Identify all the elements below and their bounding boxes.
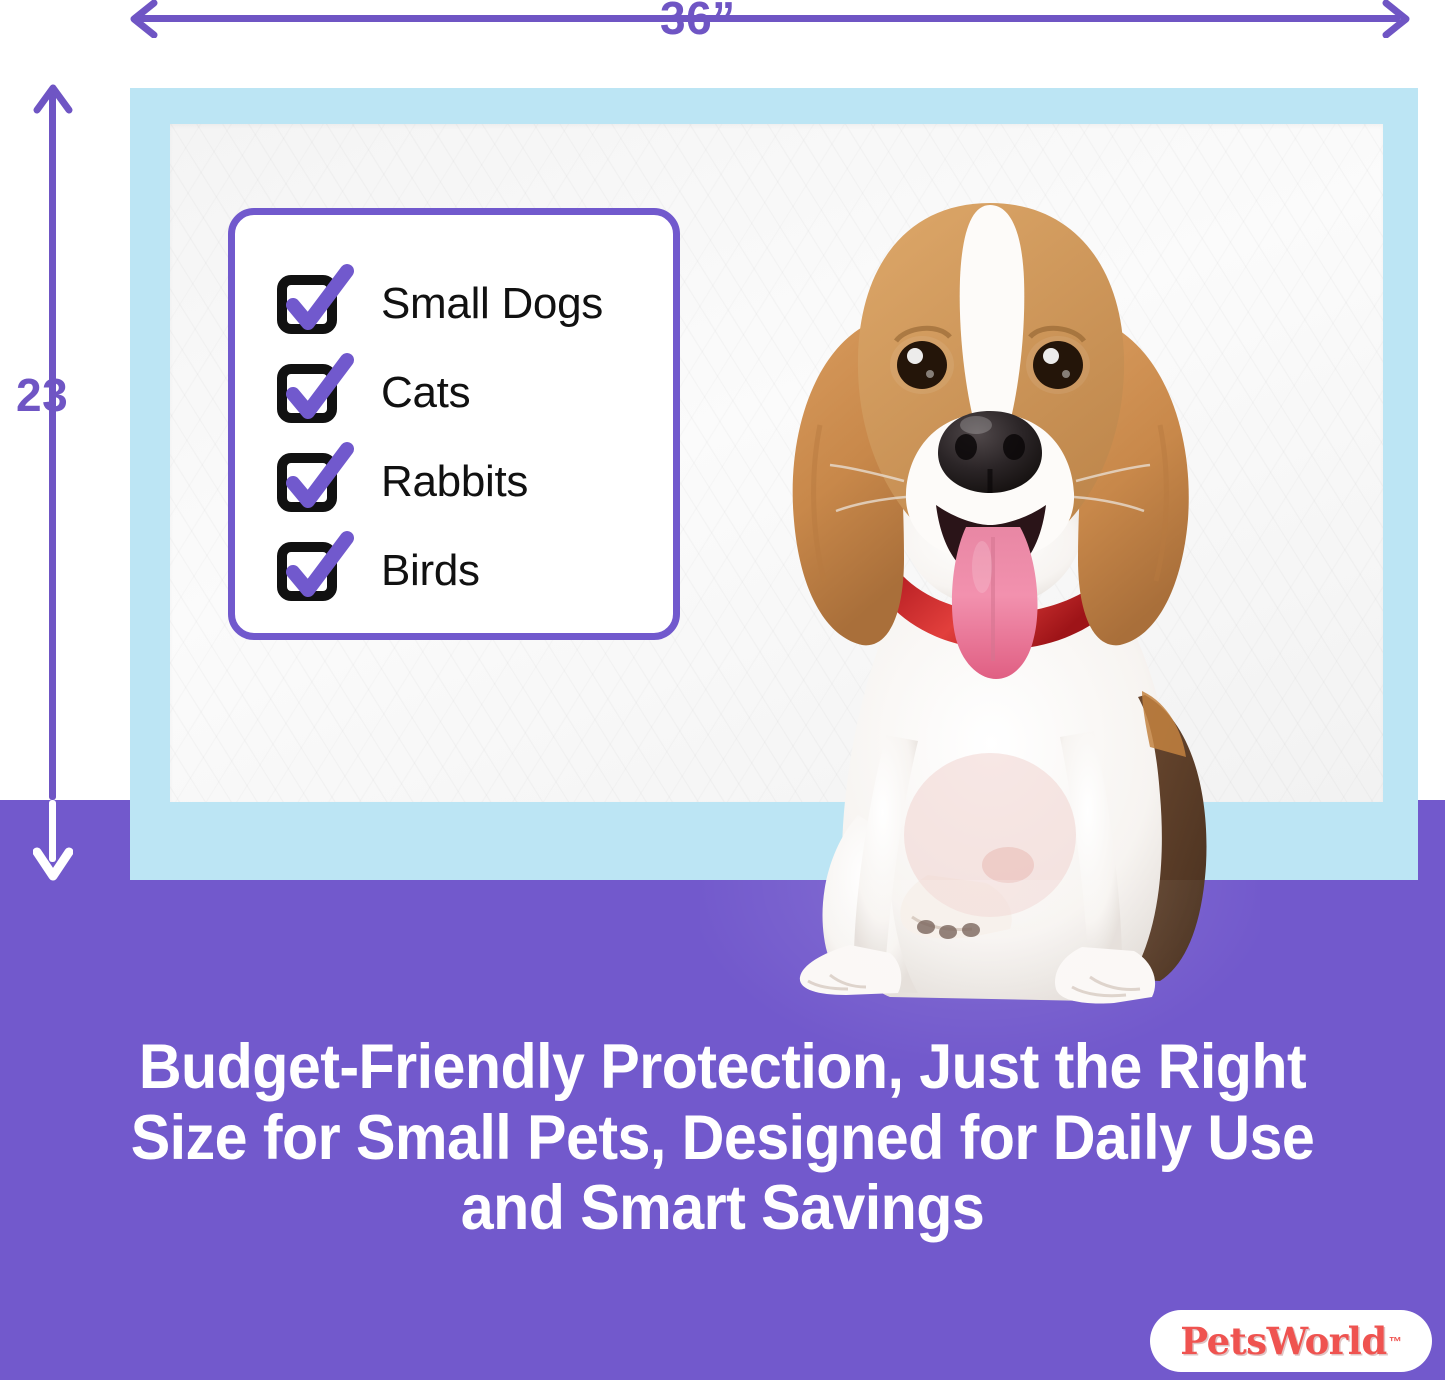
- checklist-item: Rabbits: [277, 437, 673, 526]
- arrow-right-icon: [1382, 0, 1412, 38]
- height-dimension-line-upper: [49, 88, 56, 800]
- checklist-item-label: Small Dogs: [381, 279, 603, 329]
- product-marketing-image: 36” 23 Small Dogs Cats: [0, 0, 1445, 1380]
- beagle-dog-photo: [690, 175, 1290, 1005]
- height-dimension-label: 23: [16, 372, 68, 418]
- width-dimension-label: 36”: [660, 0, 736, 41]
- trademark-symbol: ™: [1389, 1334, 1402, 1349]
- width-dimension-line: [134, 15, 1400, 22]
- brand-name: PetsWorld: [1180, 1323, 1386, 1360]
- arrow-left-icon: [128, 0, 158, 38]
- checkbox-checked-icon: [277, 273, 343, 335]
- checklist-item-label: Rabbits: [381, 457, 528, 507]
- checklist-item-label: Cats: [381, 368, 470, 418]
- checklist-item: Small Dogs: [277, 259, 673, 348]
- arrow-up-icon: [33, 82, 73, 114]
- checkbox-checked-icon: [277, 451, 343, 513]
- checkbox-checked-icon: [277, 362, 343, 424]
- pet-suitability-checklist: Small Dogs Cats Rabbits: [228, 208, 680, 640]
- brand-logo: PetsWorld™: [1150, 1310, 1432, 1372]
- checklist-item: Cats: [277, 348, 673, 437]
- checkbox-checked-icon: [277, 540, 343, 602]
- checklist-item-label: Birds: [381, 546, 480, 596]
- marketing-headline: Budget-Friendly Protection, Just the Rig…: [100, 1032, 1346, 1244]
- checklist-item: Birds: [277, 526, 673, 615]
- arrow-down-icon: [33, 840, 73, 882]
